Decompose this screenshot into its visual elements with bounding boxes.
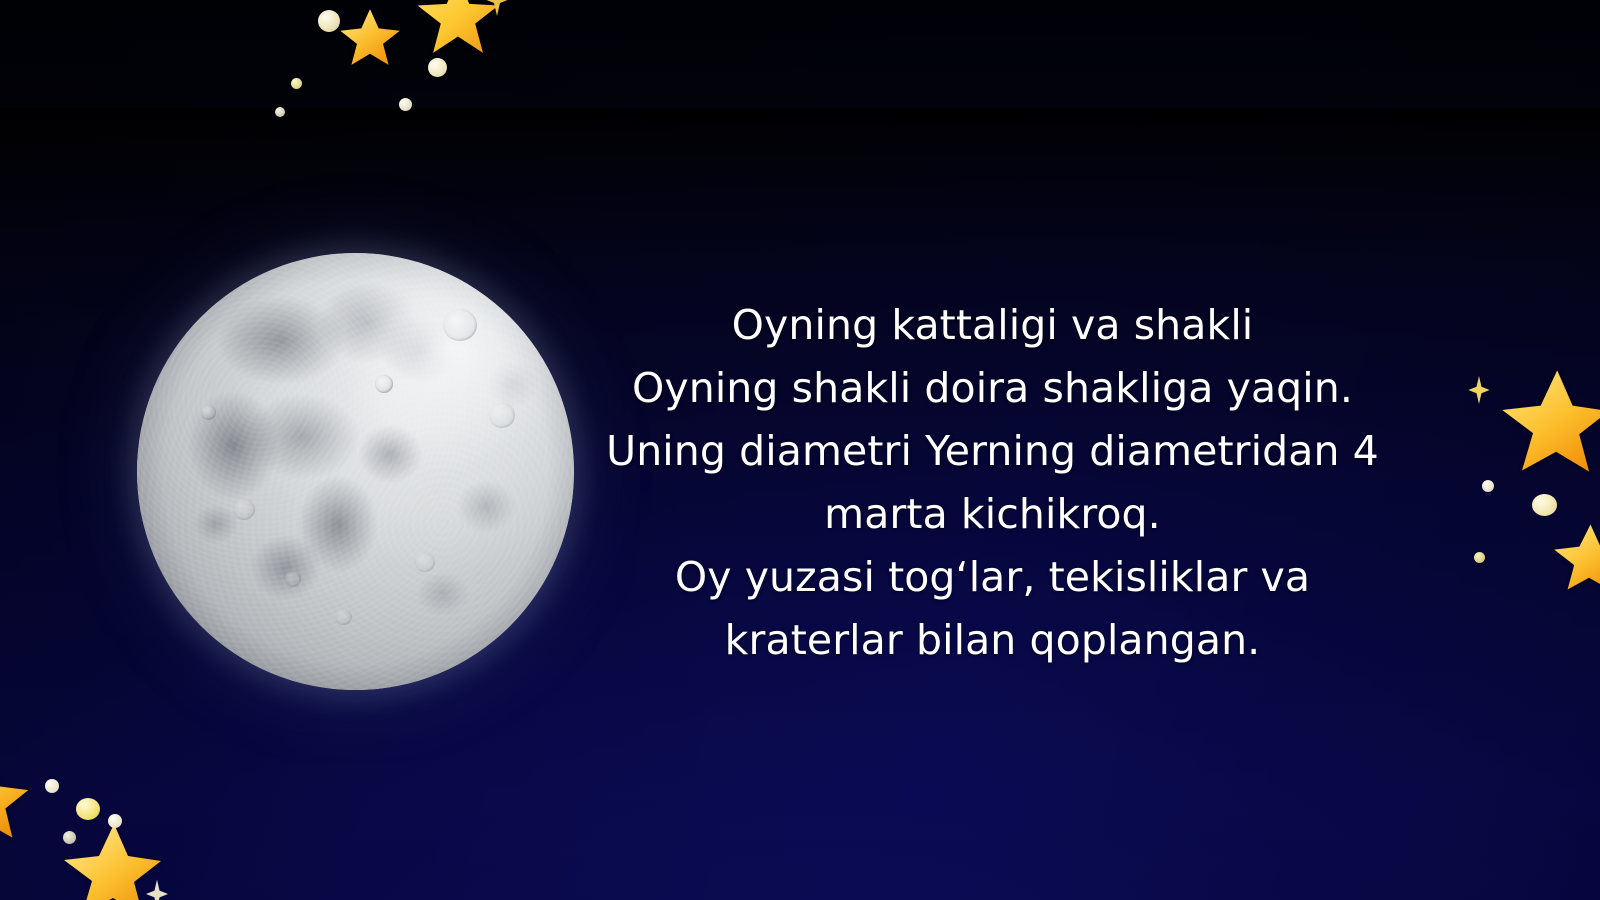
star-dot — [291, 78, 302, 89]
star-dot — [108, 814, 122, 828]
star-icon — [0, 754, 30, 842]
crater-icon — [335, 609, 352, 625]
text-line-3: Uning diametri Yerning diametridan 4 mar… — [585, 420, 1400, 546]
slide-canvas: Oyning kattaligi va shakli Oyning shakli… — [0, 0, 1600, 900]
crater-icon — [489, 403, 515, 428]
star-icon — [1500, 366, 1600, 476]
star-dot — [1474, 552, 1485, 563]
crater-icon — [233, 499, 255, 520]
star-dot — [1532, 494, 1557, 516]
bottom-left-star-cluster — [0, 730, 180, 900]
moon-image — [137, 253, 574, 690]
text-line-1: Oyning kattaligi va shakli — [585, 294, 1400, 357]
star-dot — [1482, 480, 1494, 492]
crater-icon — [415, 553, 435, 572]
star-dot — [63, 831, 76, 844]
star-icon — [62, 820, 162, 900]
star-dot — [399, 98, 412, 111]
sparkle-icon — [146, 878, 168, 900]
text-line-2: Oyning shakli doira shakliga yaqin. — [585, 357, 1400, 420]
star-dot — [318, 10, 340, 32]
sparkle-icon — [484, 0, 510, 16]
star-dot — [45, 779, 59, 793]
crater-icon — [285, 571, 301, 587]
star-dot — [428, 58, 447, 77]
moon-texture-noise — [137, 253, 574, 690]
star-icon — [1552, 520, 1600, 594]
text-line-4: Oy yuzasi togʻlar, tekisliklar va krater… — [585, 546, 1400, 672]
star-dot — [275, 107, 285, 117]
sparkle-icon — [1468, 376, 1490, 404]
star-dot — [76, 798, 100, 820]
moon-disc — [137, 253, 574, 690]
slide-text-block: Oyning kattaligi va shakli Oyning shakli… — [585, 294, 1400, 672]
top-left-star-cluster — [255, 0, 545, 120]
crater-icon — [375, 375, 393, 393]
crater-icon — [201, 405, 216, 420]
star-icon — [339, 6, 401, 68]
right-star-cluster — [1432, 352, 1600, 612]
crater-icon — [443, 309, 477, 341]
star-icon — [415, 0, 501, 58]
